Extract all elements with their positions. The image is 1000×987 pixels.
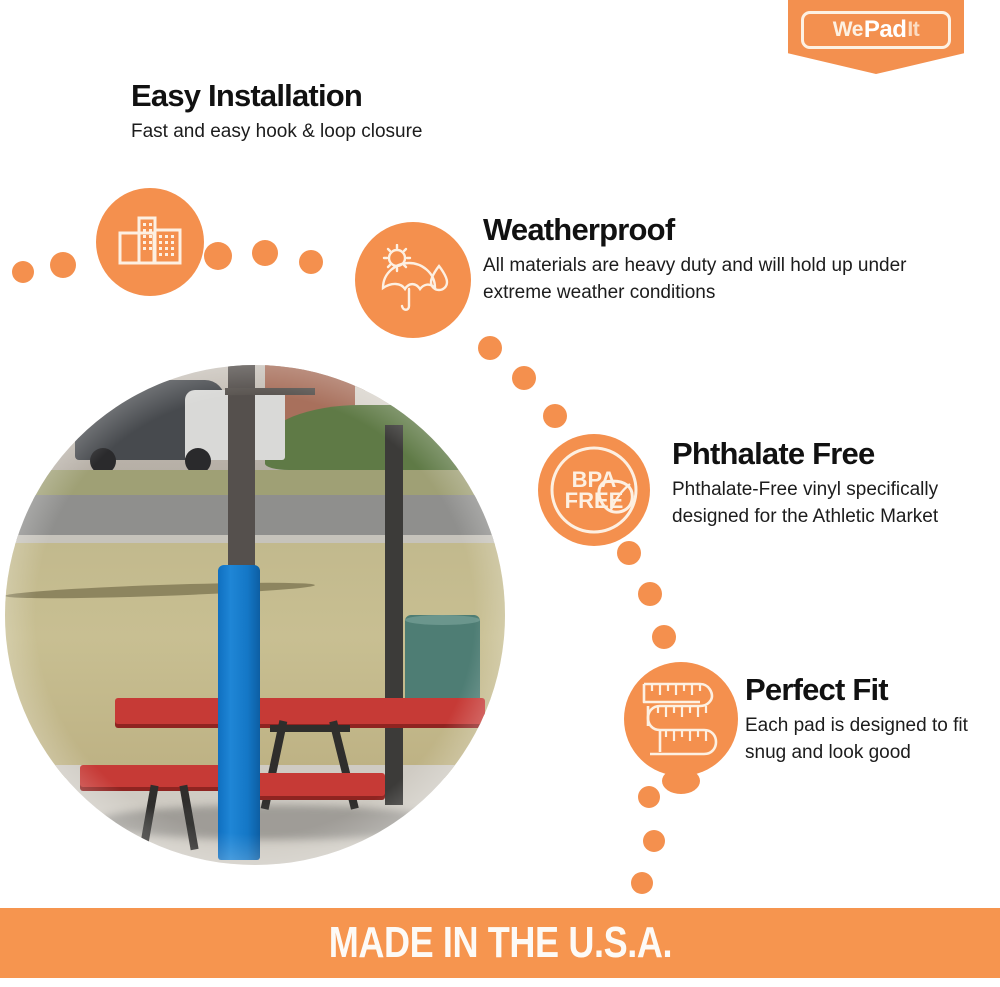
bpa-free-label: BPA FREE: [538, 470, 650, 512]
trail-dot: [643, 830, 665, 852]
product-photo: [5, 365, 505, 865]
feature-title: Phthalate Free: [672, 436, 972, 472]
trail-dot: [543, 404, 567, 428]
measuring-tape-nub: [662, 768, 700, 794]
trail-dot: [512, 366, 536, 390]
feature-phthalate-free: Phthalate Free Phthalate-Free vinyl spec…: [672, 436, 972, 531]
measuring-tape-icon: [624, 662, 738, 776]
feature-weatherproof: Weatherproof All materials are heavy dut…: [483, 212, 913, 307]
made-in-usa-text: MADE IN THE U.S.A.: [328, 918, 671, 968]
feature-description: Each pad is designed to fit snug and loo…: [745, 713, 985, 767]
trail-dot: [638, 786, 660, 808]
building-installation-icon: [96, 188, 204, 296]
photo-edge-fade: [5, 365, 505, 865]
promo-infographic: We Pad It: [0, 0, 1000, 987]
trail-dot: [50, 252, 76, 278]
sun-umbrella-raindrop-icon: [355, 222, 471, 338]
trail-dot: [299, 250, 323, 274]
logo-text-it: It: [907, 18, 919, 42]
feature-description: All materials are heavy duty and will ho…: [483, 253, 913, 307]
feature-title: Perfect Fit: [745, 672, 985, 708]
logo-text-we: We: [833, 18, 863, 42]
brand-logo: We Pad It: [788, 0, 964, 74]
feature-description: Phthalate-Free vinyl specifically design…: [672, 477, 972, 531]
trail-dot: [638, 582, 662, 606]
feature-description: Fast and easy hook & loop closure: [131, 119, 423, 146]
bpa-free-leaf-icon: BPA FREE: [538, 434, 650, 546]
trail-dot: [12, 261, 34, 283]
made-in-usa-banner: MADE IN THE U.S.A.: [0, 908, 1000, 978]
trail-dot: [478, 336, 502, 360]
feature-perfect-fit: Perfect Fit Each pad is designed to fit …: [745, 672, 985, 767]
feature-title: Easy Installation: [131, 78, 423, 114]
trail-dot: [631, 872, 653, 894]
trail-dot: [252, 240, 278, 266]
trail-dot: [652, 625, 676, 649]
trail-dot: [204, 242, 232, 270]
logo-outline-box: We Pad It: [801, 11, 951, 49]
logo-text-pad: Pad: [864, 16, 907, 44]
feature-easy-installation: Easy Installation Fast and easy hook & l…: [131, 78, 423, 146]
feature-title: Weatherproof: [483, 212, 913, 248]
